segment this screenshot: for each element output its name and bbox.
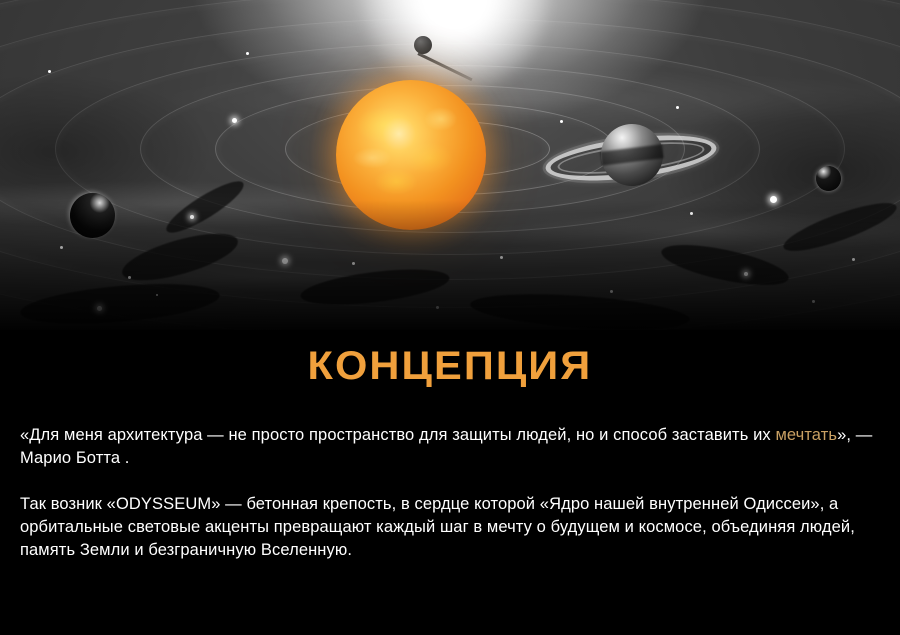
quote-text-before-highlight: «Для меня архитектура — не просто простр… [20,426,775,444]
ringed-planet [545,112,717,200]
quote-highlight-word: мечтать [775,426,837,444]
star [232,118,237,123]
bottom-spacer [0,580,900,635]
concept-paragraph: Так возник «ODYSSEUM» — бетонная крепост… [20,493,878,562]
dark-planet-right-icon [816,166,841,191]
dark-planet-top-icon [414,36,432,54]
hero-bottom-fade [0,200,900,330]
page-title: КОНЦЕПЦИЯ [308,344,593,389]
star [48,70,51,73]
star [676,106,679,109]
body-copy: «Для меня архитектура — не просто простр… [20,424,878,562]
quote-paragraph: «Для меня архитектура — не просто простр… [20,424,878,470]
presentation-slide: КОНЦЕПЦИЯ «Для меня архитектура — не про… [0,0,900,635]
star [246,52,249,55]
cosmos-hero-image [0,0,900,330]
title-band: КОНЦЕПЦИЯ [0,330,900,402]
